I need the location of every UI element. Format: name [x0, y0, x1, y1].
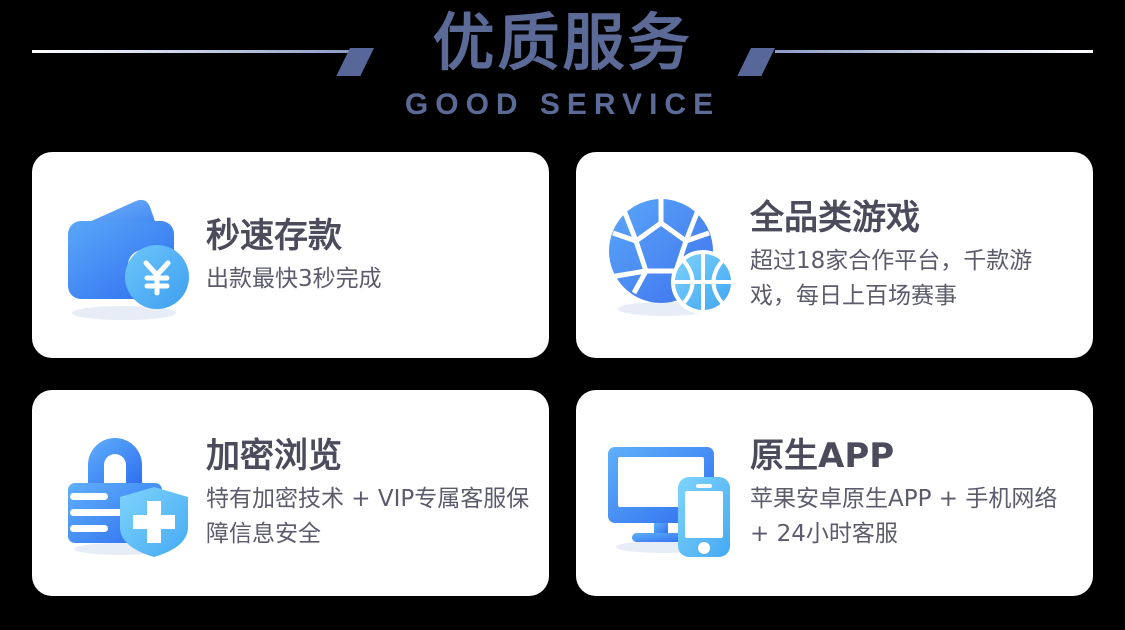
lock-shield-icon — [58, 423, 200, 563]
feature-card-encryption[interactable]: 加密浏览 特有加密技术 + VIP专属客服保障信息安全 — [32, 390, 549, 596]
card-title: 全品类游戏 — [750, 196, 1075, 240]
card-description: 特有加密技术 + VIP专属客服保障信息安全 — [206, 482, 531, 552]
feature-card-native-app-text: 原生APP 苹果安卓原生APP + 手机网络 + 24小时客服 — [744, 434, 1075, 552]
card-description: 苹果安卓原生APP + 手机网络 + 24小时客服 — [750, 482, 1075, 552]
page-title-block: 优质服务 GOOD SERVICE — [0, 0, 1125, 124]
card-title: 加密浏览 — [206, 434, 531, 478]
page-header: 优质服务 GOOD SERVICE — [0, 0, 1125, 148]
wallet-yen-icon — [58, 185, 200, 325]
card-title: 原生APP — [750, 434, 1075, 478]
feature-card-games[interactable]: 全品类游戏 超过18家合作平台，千款游戏，每日上百场赛事 — [576, 152, 1093, 358]
card-description: 超过18家合作平台，千款游戏，每日上百场赛事 — [750, 244, 1075, 314]
page-subtitle: GOOD SERVICE — [0, 86, 1125, 124]
feature-card-games-text: 全品类游戏 超过18家合作平台，千款游戏，每日上百场赛事 — [744, 196, 1075, 314]
card-description: 出款最快3秒完成 — [206, 262, 531, 297]
monitor-phone-icon — [602, 423, 744, 563]
feature-card-grid: 秒速存款 出款最快3秒完成 — [32, 152, 1093, 596]
feature-card-encryption-text: 加密浏览 特有加密技术 + VIP专属客服保障信息安全 — [200, 434, 531, 552]
soccer-basketball-icon — [602, 185, 744, 325]
feature-card-native-app[interactable]: 原生APP 苹果安卓原生APP + 手机网络 + 24小时客服 — [576, 390, 1093, 596]
card-title: 秒速存款 — [206, 214, 531, 258]
page-title: 优质服务 — [0, 0, 1125, 86]
feature-card-deposit-text: 秒速存款 出款最快3秒完成 — [200, 214, 531, 297]
feature-card-deposit[interactable]: 秒速存款 出款最快3秒完成 — [32, 152, 549, 358]
